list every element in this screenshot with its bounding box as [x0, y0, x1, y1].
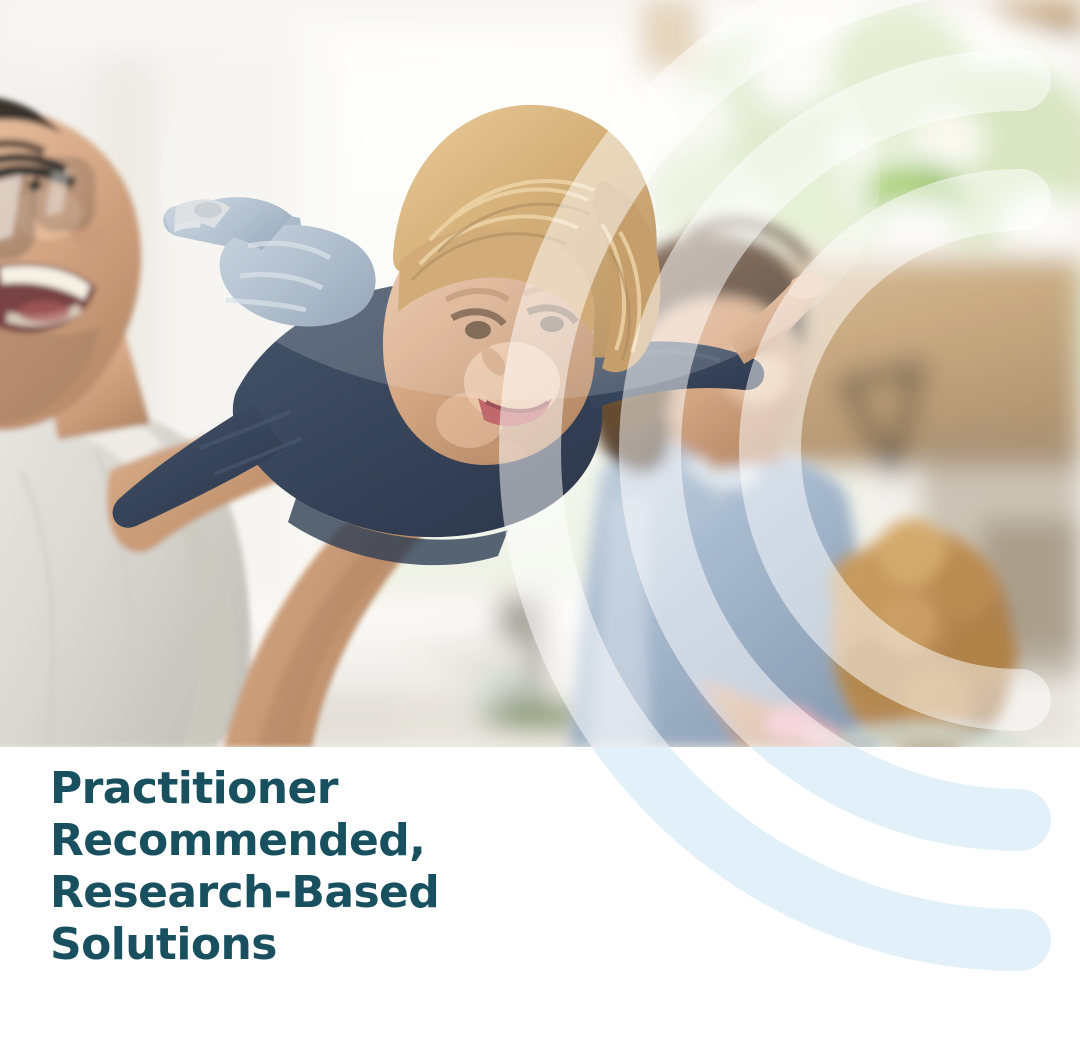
page-title: Practitioner Recommended, Research-Based…: [50, 763, 670, 971]
heading-line-2: Recommended,: [50, 815, 670, 867]
heading-line-4: Solutions: [50, 919, 670, 971]
hero-photo: [0, 0, 1080, 747]
hero-card: Practitioner Recommended, Research-Based…: [0, 0, 1080, 1061]
heading-line-1: Practitioner: [50, 763, 670, 815]
heading-line-3: Research-Based: [50, 867, 670, 919]
caption-band: Practitioner Recommended, Research-Based…: [0, 747, 1080, 1061]
